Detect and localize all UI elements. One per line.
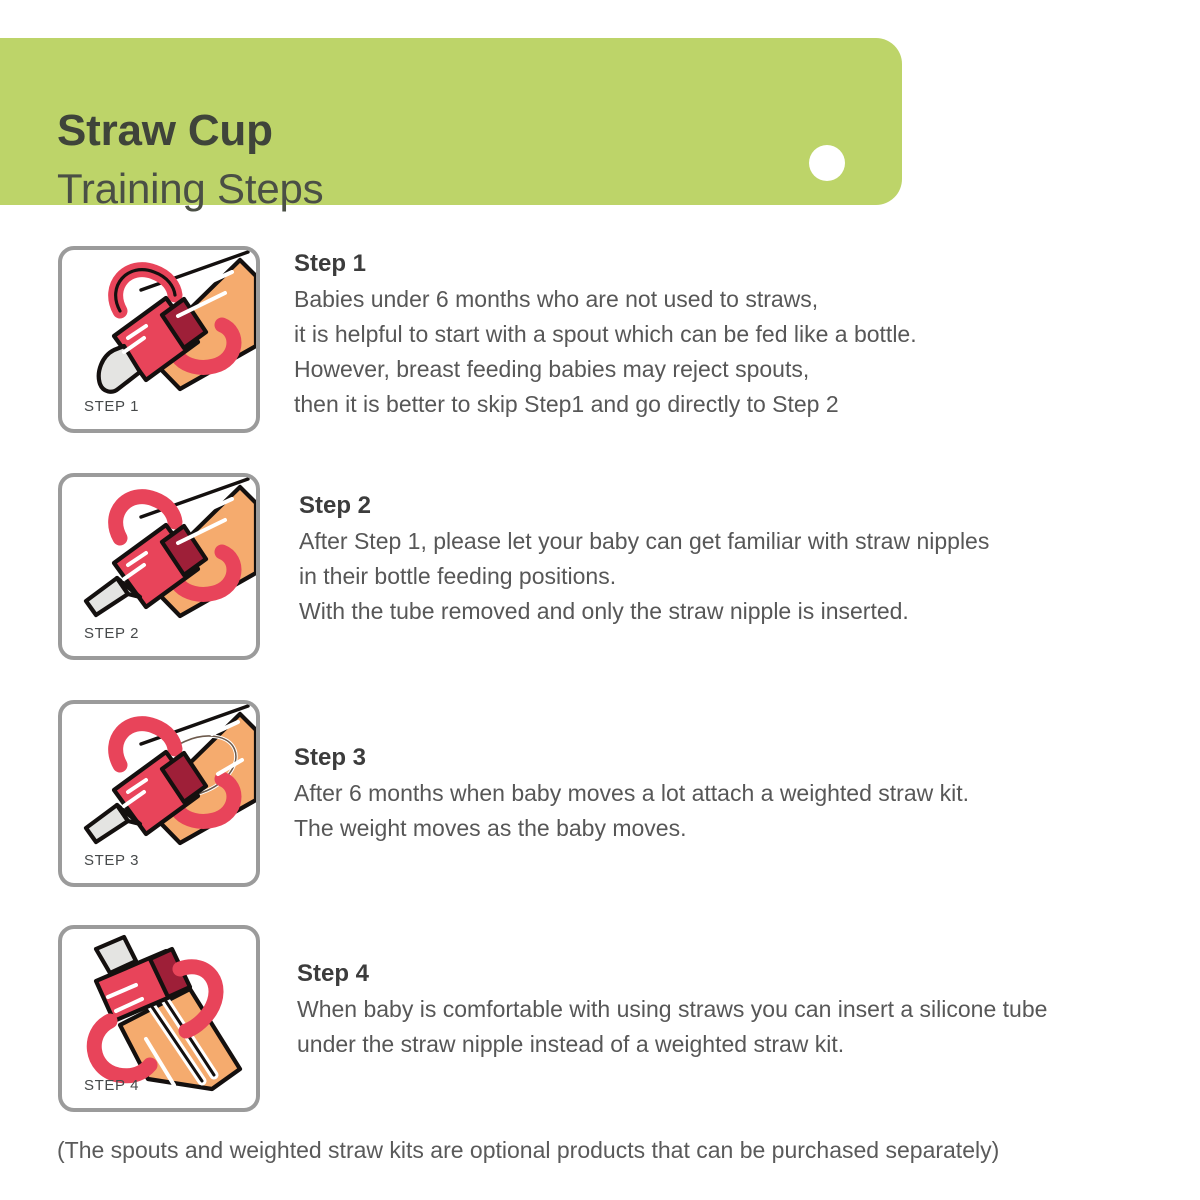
step-box-label-1: STEP 1	[84, 398, 139, 415]
step-heading-1: Step 1	[294, 248, 917, 280]
step-line: The weight moves as the baby moves.	[294, 811, 969, 846]
step-heading-2: Step 2	[299, 490, 989, 522]
step-text-2: Step 2 After Step 1, please let your bab…	[299, 490, 989, 629]
step-box-label-4: STEP 4	[84, 1077, 139, 1094]
straw-cup-training-steps-page: Straw Cup Training Steps	[0, 0, 1200, 1200]
step-box-label-3: STEP 3	[84, 852, 139, 869]
step-line: under the straw nipple instead of a weig…	[297, 1027, 1047, 1062]
step-line: Babies under 6 months who are not used t…	[294, 282, 917, 317]
step-line: in their bottle feeding positions.	[299, 559, 989, 594]
step-line: then it is better to skip Step1 and go d…	[294, 387, 917, 422]
step-line: However, breast feeding babies may rejec…	[294, 352, 917, 387]
step-line: it is helpful to start with a spout whic…	[294, 317, 917, 352]
step-illustration-box-4: STEP 4	[58, 925, 260, 1112]
page-subtitle: Training Steps	[57, 164, 323, 214]
step-line: After Step 1, please let your baby can g…	[299, 524, 989, 559]
step-illustration-box-3: STEP 3	[58, 700, 260, 887]
step-line: When baby is comfortable with using stra…	[297, 992, 1047, 1027]
step-illustration-box-2: STEP 2	[58, 473, 260, 660]
step-heading-4: Step 4	[297, 958, 1047, 990]
step-line: After 6 months when baby moves a lot att…	[294, 776, 969, 811]
step-heading-3: Step 3	[294, 742, 969, 774]
step-text-3: Step 3 After 6 months when baby moves a …	[294, 742, 969, 846]
step-text-1: Step 1 Babies under 6 months who are not…	[294, 248, 917, 422]
footnote: (The spouts and weighted straw kits are …	[57, 1134, 999, 1166]
step-line: With the tube removed and only the straw…	[299, 594, 989, 629]
step-text-4: Step 4 When baby is comfortable with usi…	[297, 958, 1047, 1062]
punch-hole-icon	[809, 145, 845, 181]
page-title: Straw Cup	[57, 106, 273, 156]
step-box-label-2: STEP 2	[84, 625, 139, 642]
step-illustration-box-1: STEP 1	[58, 246, 260, 433]
header-banner: Straw Cup Training Steps	[0, 38, 902, 205]
